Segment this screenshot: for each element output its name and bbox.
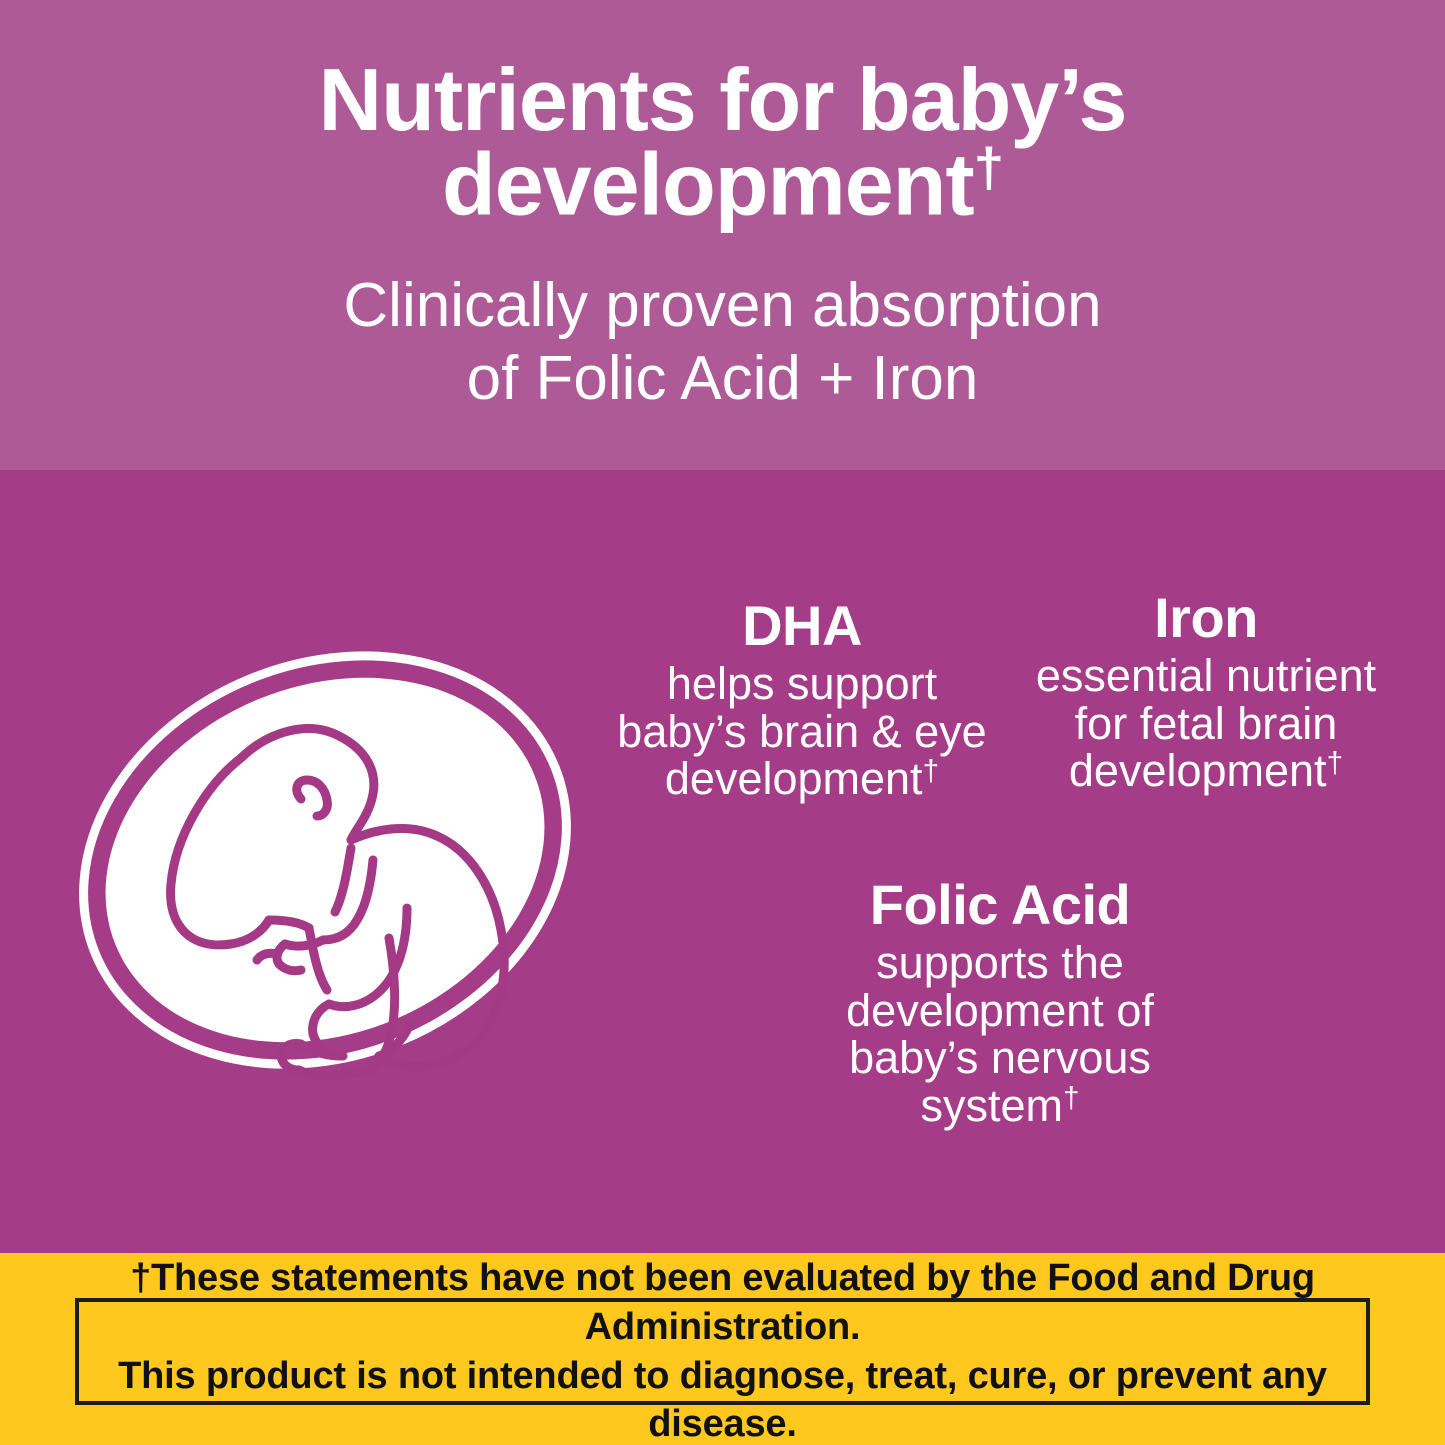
nutrients-section: DHA helps support baby’s brain & eye dev…	[0, 470, 1445, 1253]
nutrient-description-iron: essential nutrient for fetal brain devel…	[1006, 652, 1406, 795]
nutrient-title-iron: Iron	[1006, 590, 1406, 646]
disclaimer-text: †These statements have not been evaluate…	[79, 1254, 1366, 1445]
nutrient-block-folic-acid: Folic Acid supports the development of b…	[770, 877, 1230, 1130]
header-band: Nutrients for baby’s development† Clinic…	[0, 0, 1445, 470]
subtitle-line-1: Clinically proven absorption	[343, 271, 1101, 340]
disclaimer-box: †These statements have not been evaluate…	[75, 1298, 1370, 1405]
product-infographic: Nutrients for baby’s development† Clinic…	[0, 0, 1445, 1445]
subtitle-line-2: of Folic Acid + Iron	[467, 344, 979, 413]
nutrient-dagger-dha: †	[923, 755, 940, 788]
footer-band: †These statements have not been evaluate…	[0, 1253, 1445, 1445]
nutrient-dagger-folic-acid: †	[1063, 1081, 1080, 1114]
nutrient-description-dha: helps support baby’s brain & eye develop…	[592, 660, 1012, 803]
nutrient-description-text-iron: essential nutrient for fetal brain devel…	[1036, 650, 1376, 796]
nutrient-description-text-folic-acid: supports the development of baby’s nervo…	[846, 937, 1154, 1131]
nutrient-title-dha: DHA	[592, 598, 1012, 654]
nutrient-dagger-iron: †	[1327, 747, 1344, 780]
nutrient-block-dha: DHA helps support baby’s brain & eye dev…	[592, 598, 1012, 803]
headline-text: Nutrients for baby’s development	[319, 50, 1127, 234]
nutrient-description-folic-acid: supports the development of baby’s nervo…	[770, 939, 1230, 1130]
nutrient-title-folic-acid: Folic Acid	[770, 877, 1230, 933]
nutrient-block-iron: Iron essential nutrient for fetal brain …	[1006, 590, 1406, 795]
subtitle: Clinically proven absorptionof Folic Aci…	[183, 269, 1263, 415]
fetus-in-womb-illustration	[55, 590, 595, 1130]
page-title: Nutrients for baby’s development†	[203, 58, 1243, 227]
headline-dagger-symbol: †	[974, 137, 1003, 198]
